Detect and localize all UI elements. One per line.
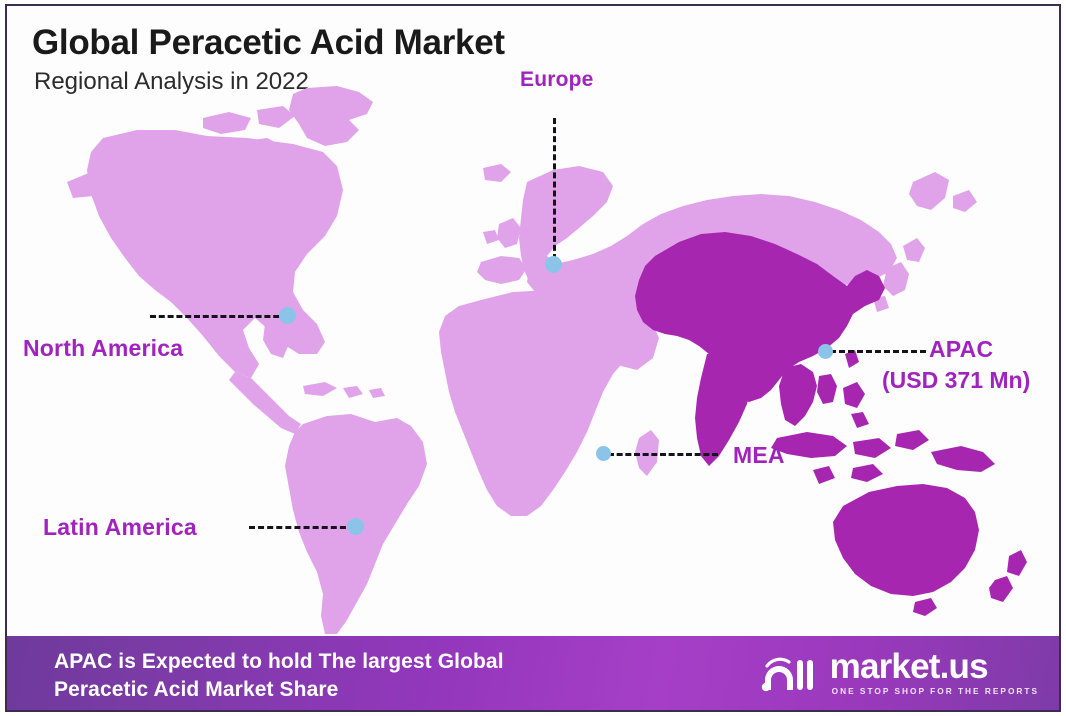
map-marker-latin-america[interactable] <box>347 518 364 535</box>
footer-caption: APAC is Expected to hold The largest Glo… <box>54 648 504 704</box>
region-label-mea: MEA <box>733 442 785 469</box>
map-marker-europe[interactable] <box>545 256 562 273</box>
market-us-logo-icon <box>759 650 821 696</box>
map-apac-highlight <box>635 232 1027 616</box>
footer-banner: APAC is Expected to hold The largest Glo… <box>7 636 1059 710</box>
region-label-europe: Europe <box>520 68 594 92</box>
map-marker-mea[interactable] <box>596 446 611 461</box>
footer-caption-line2: Peracetic Acid Market Share <box>54 676 504 704</box>
map-marker-apac[interactable] <box>818 344 833 359</box>
page-title: Global Peracetic Acid Market <box>32 23 505 63</box>
world-map <box>7 86 1059 638</box>
brand-tagline: ONE STOP SHOP FOR THE REPORTS <box>832 686 1039 696</box>
region-label-north-america: North America <box>23 335 183 362</box>
infographic-root: Global Peracetic Acid Market Regional An… <box>0 0 1066 716</box>
map-marker-north-america[interactable] <box>279 307 296 324</box>
world-map-svg <box>7 86 1059 638</box>
region-label-latin-america: Latin America <box>43 514 197 541</box>
brand-logo-text: market.us ONE STOP SHOP FOR THE REPORTS <box>830 651 1039 696</box>
infographic-canvas: Global Peracetic Acid Market Regional An… <box>7 6 1059 710</box>
leader-line-europe <box>553 118 556 260</box>
region-label-apac: APAC <box>929 336 993 363</box>
leader-line-apac <box>830 350 926 353</box>
region-value-apac: (USD 371 Mn) <box>882 367 1030 394</box>
footer-caption-line1: APAC is Expected to hold The largest Glo… <box>54 648 504 676</box>
leader-line-north-america <box>150 315 288 318</box>
leader-line-mea <box>608 453 718 456</box>
leader-line-latin-america <box>249 526 355 529</box>
brand-logo[interactable]: market.us ONE STOP SHOP FOR THE REPORTS <box>759 650 1039 696</box>
brand-name: market.us <box>830 651 1039 683</box>
